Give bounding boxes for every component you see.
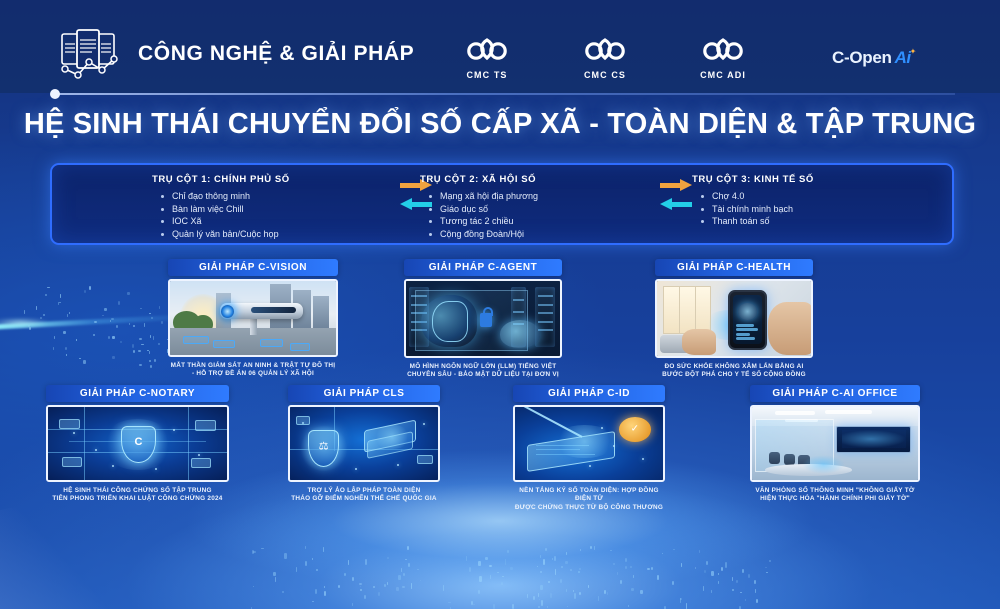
pillar-item: Chợ 4.0 (712, 190, 814, 203)
card-c-health[interactable]: GIẢI PHÁP C-HEALTH (655, 259, 813, 380)
caption-line-2: CHUYÊN SÂU - BẢO MẬT DỮ LIỆU TẠI ĐƠN VỊ (404, 371, 562, 379)
pillar-item: Giáo dục số (440, 203, 538, 216)
caption-line-2: HIỆN THỰC HÓA "HÀNH CHÍNH PHI GIẤY TỜ" (750, 495, 920, 503)
pillar-item: Tương tác 2 chiều (440, 215, 538, 228)
card-caption: HỆ SINH THÁI CÔNG CHỨNG SỐ TẬP TRUNG TIÊ… (46, 487, 229, 504)
cmc-trefoil-icon (585, 36, 625, 67)
brand-title: CÔNG NGHỆ & GIẢI PHÁP (138, 42, 414, 66)
pillar-item: IOC Xã (172, 215, 290, 228)
brand: CÔNG NGHỆ & GIẢI PHÁP (58, 28, 414, 80)
card-title: GIẢI PHÁP C-HEALTH (677, 262, 791, 273)
c-open-ai-accent: Ai (895, 48, 911, 68)
ai-head-server-room-photo (404, 279, 562, 358)
pillar-list: Chợ 4.0 Tài chính minh bạch Thanh toán s… (692, 190, 814, 228)
card-c-vision[interactable]: GIẢI PHÁP C-VISION (168, 259, 338, 379)
logo-cmc-ts[interactable]: CMC TS (452, 36, 522, 80)
divider-dot (50, 89, 60, 99)
digital-shield-network-photo: C (46, 405, 229, 482)
card-title: GIẢI PHÁP C-AGENT (429, 262, 538, 273)
card-title-bar: GIẢI PHÁP C-NOTARY (46, 385, 229, 402)
card-title: GIẢI PHÁP C-AI OFFICE (772, 388, 897, 399)
pillar-2: TRỤ CỘT 2: XÃ HỘI SỐ Mạng xã hội địa phư… (420, 174, 538, 240)
page-title: HỆ SINH THÁI CHUYỂN ĐỔI SỐ CẤP XÃ - TOÀN… (0, 108, 1000, 141)
logo-c-open-ai[interactable]: C-Open Ai ✦ (832, 48, 917, 68)
card-caption: VĂN PHÒNG SỐ THÔNG MINH "KHÔNG GIẤY TỜ H… (750, 487, 920, 504)
pillars-panel: TRỤ CỘT 1: CHÍNH PHỦ SỐ Chỉ đạo thông mi… (50, 163, 954, 245)
card-caption: MÔ HÌNH NGÔN NGỮ LỚN (LLM) TIẾNG VIỆT CH… (404, 363, 562, 380)
slide-root: CÔNG NGHỆ & GIẢI PHÁP CMC TS (0, 0, 1000, 609)
card-title: GIẢI PHÁP C-NOTARY (80, 388, 195, 399)
caption-line-2: BƯỚC ĐỘT PHÁ CHO Y TẾ SỐ CỘNG ĐỒNG (655, 371, 813, 379)
header-bar: CÔNG NGHỆ & GIẢI PHÁP CMC TS (0, 0, 1000, 93)
logo-label: CMC TS (466, 70, 507, 80)
flow-arrows-2 (660, 179, 692, 211)
pillar-list: Mạng xã hội địa phương Giáo dục số Tương… (420, 190, 538, 240)
card-caption: ĐO SỨC KHỎE KHÔNG XÂM LẤN BẰNG AI BƯỚC Đ… (655, 363, 813, 380)
smart-city-surveillance-camera-photo (168, 279, 338, 357)
logo-label: CMC ADI (700, 70, 746, 80)
caption-line-2: TIÊN PHONG TRIỂN KHAI LUẬT CÔNG CHỨNG 20… (46, 495, 229, 503)
card-title-bar: GIẢI PHÁP C-VISION (168, 259, 338, 276)
header-divider (55, 93, 955, 95)
card-title-bar: GIẢI PHÁP CLS (288, 385, 440, 402)
card-title: GIẢI PHÁP C-ID (548, 388, 630, 399)
card-cls[interactable]: GIẢI PHÁP CLS ⚖ TRỢ LÝ ẢO LẬP PHÁP TOÀN … (288, 385, 440, 504)
legal-shield-book-chip-photo: ⚖ (288, 405, 440, 482)
logo-cmc-cs[interactable]: CMC CS (570, 36, 640, 80)
card-caption: NỀN TẢNG KÝ SỐ TOÀN DIỆN: HỢP ĐỒNG ĐIỆN … (513, 487, 665, 512)
pillar-list: Chỉ đạo thông minh Bàn làm việc Chill IO… (152, 190, 290, 240)
cmc-trefoil-icon (703, 36, 743, 67)
arrow-left-cyan (660, 198, 692, 211)
pillar-1: TRỤ CỘT 1: CHÍNH PHỦ SỐ Chỉ đạo thông mi… (152, 174, 290, 240)
card-c-agent[interactable]: GIẢI PHÁP C-AGENT M (404, 259, 562, 380)
pillar-item: Tài chính minh bạch (712, 203, 814, 216)
digital-signature-tablet-badge-photo: ✓ (513, 405, 665, 482)
arrow-right-orange (660, 179, 692, 192)
card-c-notary[interactable]: GIẢI PHÁP C-NOTARY C HỆ SI (46, 385, 229, 504)
pillar-item: Mạng xã hội địa phương (440, 190, 538, 203)
pillar-title: TRỤ CỘT 2: XÃ HỘI SỐ (420, 174, 538, 185)
documents-chart-icon (58, 28, 120, 80)
pillar-item: Thanh toán số (712, 215, 814, 228)
sparkle-icon: ✦ (910, 47, 917, 56)
card-title: GIẢI PHÁP CLS (324, 388, 405, 399)
card-caption: TRỢ LÝ ẢO LẬP PHÁP TOÀN DIỆN THÁO GỠ ĐIỂ… (288, 487, 440, 504)
card-title-bar: GIẢI PHÁP C-HEALTH (655, 259, 813, 276)
card-title-bar: GIẢI PHÁP C-ID (513, 385, 665, 402)
c-open-ai-text: C-Open (832, 48, 892, 68)
caption-line-1: NỀN TẢNG KÝ SỐ TOÀN DIỆN: HỢP ĐỒNG ĐIỆN … (513, 487, 665, 504)
pillar-title: TRỤ CỘT 1: CHÍNH PHỦ SỐ (152, 174, 290, 185)
pillar-item: Quản lý văn bản/Cuộc họp (172, 228, 290, 241)
card-title: GIẢI PHÁP C-VISION (199, 262, 307, 273)
caption-line-2: THÁO GỠ ĐIỂM NGHẼN THỂ CHẾ QUỐC GIA (288, 495, 440, 503)
card-title-bar: GIẢI PHÁP C-AI OFFICE (750, 385, 920, 402)
partner-logos: CMC TS CMC CS CMC ADI (452, 36, 917, 80)
card-c-ai-office[interactable]: GIẢI PHÁP C-AI OFFICE VĂN PHÒNG (750, 385, 920, 504)
pillar-item: Chỉ đạo thông minh (172, 190, 290, 203)
pillar-3: TRỤ CỘT 3: KINH TẾ SỐ Chợ 4.0 Tài chính … (692, 174, 814, 228)
caption-line-2: ĐƯỢC CHỨNG THỰC TỪ BỘ CÔNG THƯƠNG (513, 504, 665, 512)
card-title-bar: GIẢI PHÁP C-AGENT (404, 259, 562, 276)
phone-face-health-scan-photo (655, 279, 813, 358)
pillar-item: Cộng đồng Đoàn/Hội (440, 228, 538, 241)
cmc-trefoil-icon (467, 36, 507, 67)
logo-cmc-adi[interactable]: CMC ADI (688, 36, 758, 80)
smart-office-meeting-room-photo (750, 405, 920, 482)
card-c-id[interactable]: GIẢI PHÁP C-ID ✓ NỀN TẢNG KÝ SỐ TOÀN DIỆ… (513, 385, 665, 512)
caption-line-2: - HỖ TRỢ ĐỀ ÁN 06 QUẢN LÝ XÃ HỘI (168, 370, 338, 378)
pillar-item: Bàn làm việc Chill (172, 203, 290, 216)
logo-label: CMC CS (584, 70, 626, 80)
pillar-title: TRỤ CỘT 3: KINH TẾ SỐ (692, 174, 814, 185)
card-caption: MẮT THẦN GIÁM SÁT AN NINH & TRẬT TỰ ĐÔ T… (168, 362, 338, 379)
